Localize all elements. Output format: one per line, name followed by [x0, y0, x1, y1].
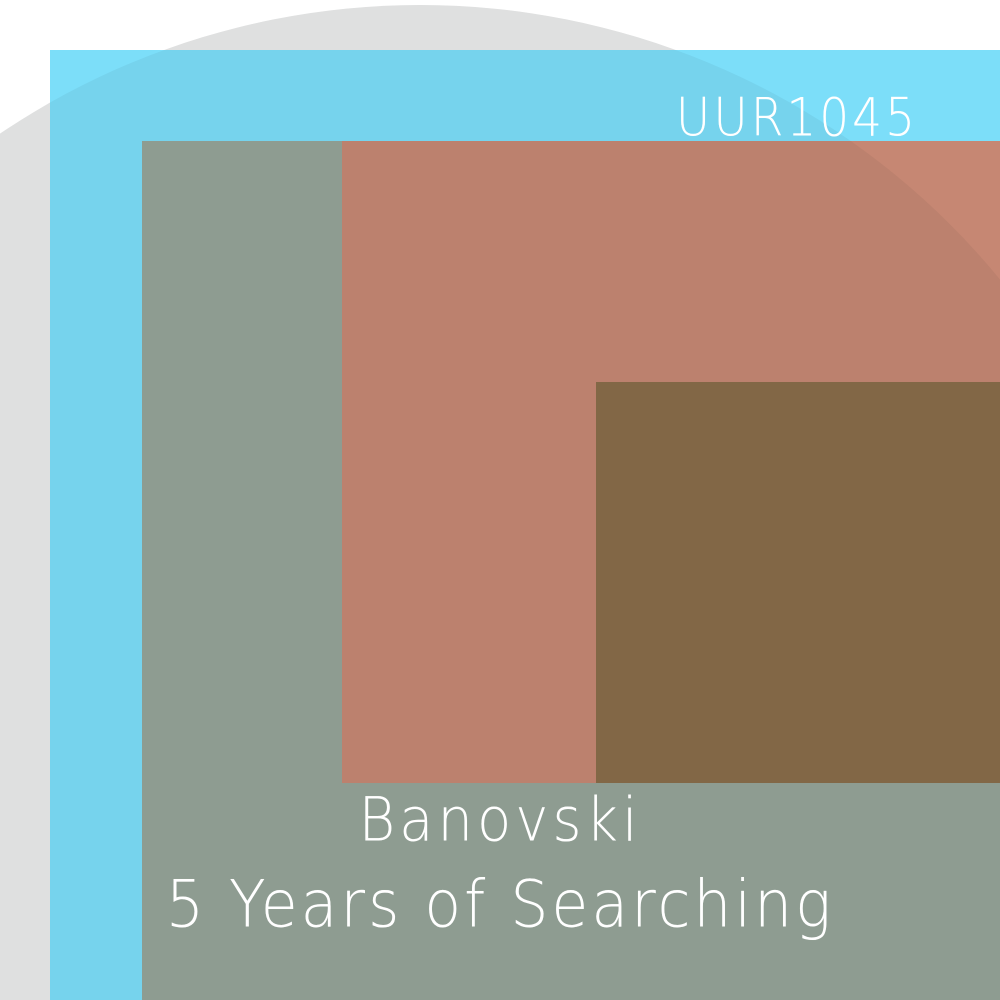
catalog-number: UUR1045 [676, 92, 918, 145]
release-title: 5 Years of Searching [0, 873, 1000, 938]
title-block: Banovski 5 Years of Searching [0, 793, 1000, 935]
brown-block [596, 382, 1000, 783]
artist-name: Banovski [0, 791, 1000, 851]
album-cover: UUR1045 Banovski 5 Years of Searching [0, 0, 1000, 1000]
